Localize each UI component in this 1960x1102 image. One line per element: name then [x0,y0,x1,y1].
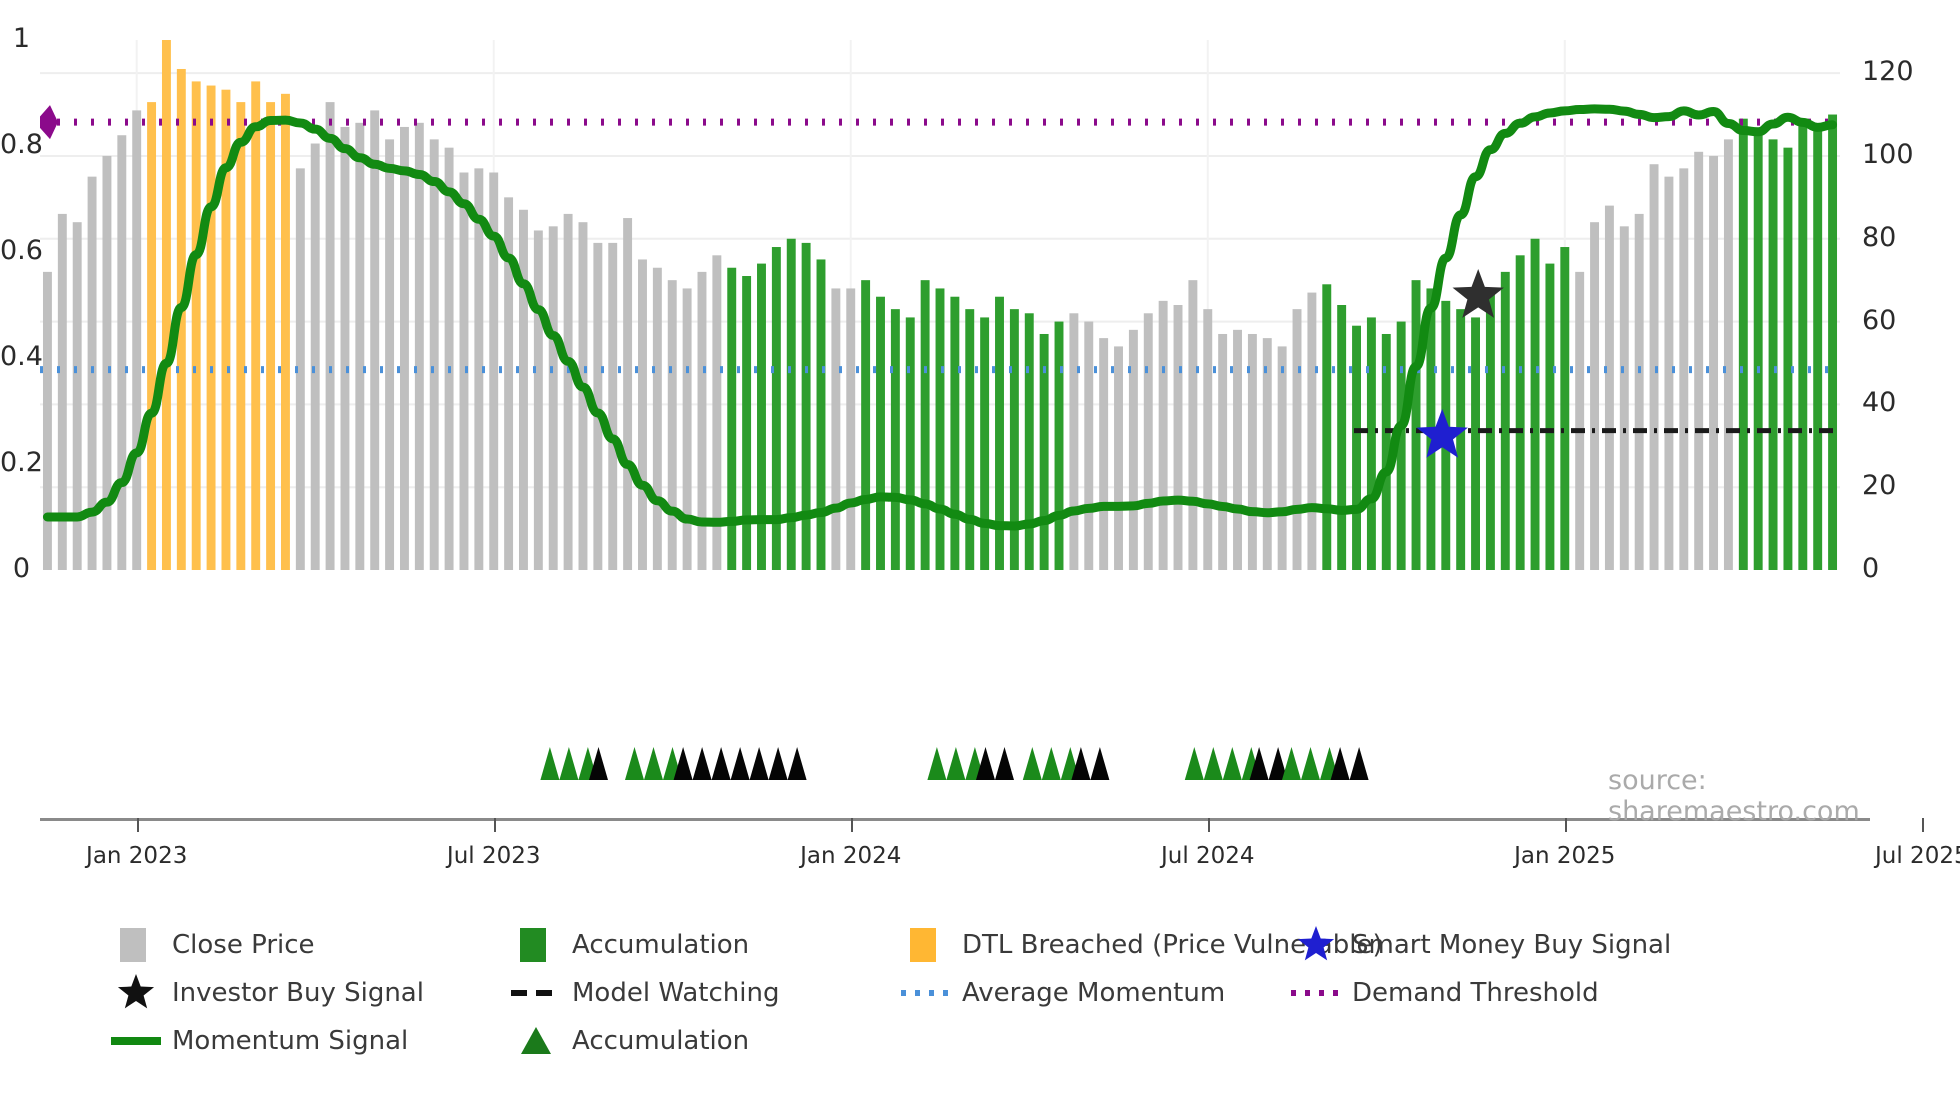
right-axis-tick-label: 60 [1862,305,1896,336]
dashed-line-icon [509,973,563,1013]
accumulation-bar [876,297,885,570]
accumulation-bar [1560,247,1569,570]
accumulation-bar [1501,272,1510,570]
legend-label: Average Momentum [962,978,1225,1008]
legend-label: Close Price [172,930,315,960]
accumulation-bar [1798,123,1807,570]
accumulation-bar [802,243,811,570]
watch-triangle-marker [712,747,731,780]
close-price-bar [1620,226,1629,570]
legend-key [500,1021,572,1061]
close-price-bar [355,123,364,570]
close-price-bar [1307,293,1316,570]
left-axis-tick-label: 0.8 [0,129,30,160]
close-price-bar [1218,334,1227,570]
close-price-bar [1203,309,1212,570]
right-axis-tick-label: 80 [1862,222,1896,253]
x-axis-tick-label: Jul 2025 [1832,843,1960,869]
chart-legend: Close PriceAccumulationDTL Breached (Pri… [100,925,1900,1069]
legend-row: Close PriceAccumulationDTL Breached (Pri… [100,925,1900,965]
close-price-bar [340,127,349,570]
accumulation-triangle-marker [946,747,965,780]
close-price-bar [1679,168,1688,570]
chart-canvas [40,40,1840,570]
legend-label: Demand Threshold [1352,978,1599,1008]
x-axis-tick-label: Jul 2024 [1118,843,1298,869]
legend-key [100,973,172,1013]
close-price-bar [117,135,126,570]
watch-triangle-marker [1090,747,1109,780]
legend-key [100,925,172,965]
close-price-bar [564,214,573,570]
legend-label: Accumulation [572,930,749,960]
dtl-breached-bar [192,81,201,570]
close-price-bar [1069,313,1078,570]
accumulation-bar [1322,284,1331,570]
x-axis-tick [137,818,139,832]
close-price-bar [1144,313,1153,570]
accumulation-bar [1783,148,1792,570]
close-price-bar [519,210,528,570]
close-price-bar [608,243,617,570]
right-axis-tick-label: 0 [1862,553,1879,584]
close-price-bar [1575,272,1584,570]
dtl-breached-bar [147,102,156,570]
legend-row: Investor Buy SignalModel WatchingAverage… [100,973,1900,1013]
x-axis-tick [851,818,853,832]
legend-key [1280,925,1352,965]
close-price-bar [1188,280,1197,570]
accumulation-bar [921,280,930,570]
legend-key [890,973,962,1013]
watch-triangle-marker [1350,747,1369,780]
close-price-bar [400,127,409,570]
dtl-breached-bar [162,40,171,570]
dtl-breached-bar [281,94,290,570]
right-axis-tick-label: 20 [1862,470,1896,501]
chart-page: 10.80.60.40.20 120100806040200 Jan 2023J… [0,0,1960,1102]
watch-triangle-marker [750,747,769,780]
close-price-bar [549,226,558,570]
accumulation-bar [1545,264,1554,570]
accumulation-bar [980,317,989,570]
accumulation-triangle-marker [1223,747,1242,780]
left-axis-tick-label: 1 [0,23,30,54]
left-axis-tick-label: 0.4 [0,341,30,372]
close-price-bar [1233,330,1242,570]
accumulation-triangle-strip [40,735,1840,785]
x-axis-line [40,818,1870,821]
dtl-breached-bar [207,86,216,570]
accumulation-triangle-marker [1204,747,1223,780]
x-axis-tick-label: Jul 2023 [404,843,584,869]
accumulation-bar [1352,326,1361,570]
close-price-bar [1709,156,1718,570]
close-price-bar [1724,139,1733,570]
dtl-breached-bar [236,102,245,570]
left-axis-tick-label: 0 [0,553,30,584]
solid-line-icon [109,1021,163,1061]
x-axis-tick [494,818,496,832]
legend-item[interactable]: Momentum Signal [100,1021,408,1061]
color-swatch-icon [899,925,953,965]
x-axis-tick-label: Jan 2024 [761,843,941,869]
close-price-bar [1129,330,1138,570]
close-price-bar [311,144,320,570]
close-price-bar [132,110,141,570]
close-price-bar [445,148,454,570]
close-price-bar [1114,346,1123,570]
close-price-bar [683,288,692,570]
dtl-breached-bar [266,102,275,570]
close-price-bar [668,280,677,570]
legend-label: Model Watching [572,978,779,1008]
close-price-bar [370,110,379,570]
legend-label: Smart Money Buy Signal [1352,930,1671,960]
color-swatch-icon [109,925,163,965]
source-attribution: source: sharemaestro.com [1608,765,1960,827]
legend-item[interactable]: Demand Threshold [1280,973,1599,1013]
left-axis-tick-label: 0.6 [0,235,30,266]
legend-item[interactable]: Average Momentum [890,973,1225,1013]
accumulation-bar [861,280,870,570]
star-icon [1289,925,1343,965]
accumulation-triangle-marker [1023,747,1042,780]
accumulation-bar [1471,317,1480,570]
close-price-bar [415,123,424,570]
legend-key [1280,973,1352,1013]
legend-label: Momentum Signal [172,1026,408,1056]
x-axis-tick [1208,818,1210,832]
accumulation-bar [891,309,900,570]
accumulation-triangle-marker [927,747,946,780]
watch-triangle-marker [788,747,807,780]
accumulation-bar [1412,280,1421,570]
accumulation-bar [1055,322,1064,570]
close-price-bar [846,288,855,570]
accumulation-bar [936,288,945,570]
close-price-bar [623,218,632,570]
close-price-bar [430,139,439,570]
triangle-icon [509,1021,563,1061]
legend-item[interactable]: Close Price [100,925,315,965]
close-price-bar [385,139,394,570]
close-price-bar [326,102,335,570]
right-axis-tick-label: 40 [1862,387,1896,418]
accumulation-triangle-marker [1282,747,1301,780]
accumulation-bar [1769,139,1778,570]
legend-key [500,973,572,1013]
close-price-bar [1174,305,1183,570]
accumulation-triangle-marker [540,747,559,780]
accumulation-bar [1813,131,1822,570]
right-axis-tick-label: 120 [1862,56,1914,87]
close-price-bar [1293,309,1302,570]
close-price-bar [43,272,52,570]
close-price-bar [831,288,840,570]
demand-threshold-marker [40,105,58,139]
accumulation-bar [1754,131,1763,570]
legend-item[interactable]: Accumulation [500,1021,749,1061]
accumulation-triangle-marker [559,747,578,780]
legend-item[interactable]: Investor Buy Signal [100,973,424,1013]
close-price-bar [1159,301,1168,570]
legend-key [890,925,962,965]
accumulation-triangle-marker [625,747,644,780]
legend-row: Momentum SignalAccumulation [100,1021,1900,1061]
accumulation-bar [817,259,826,570]
x-axis-tick-label: Jan 2023 [47,843,227,869]
close-price-bar [1664,177,1673,570]
left-axis-tick-label: 0.2 [0,447,30,478]
close-price-bar [638,259,647,570]
legend-label: Accumulation [572,1026,749,1056]
legend-item[interactable]: Accumulation [500,925,749,965]
accumulation-bar [950,297,959,570]
accumulation-bar [1531,239,1540,570]
accumulation-bar [1739,119,1748,570]
star-icon [109,973,163,1013]
close-price-bar [1099,338,1108,570]
close-price-bar [1694,152,1703,570]
x-axis-tick-label: Jan 2025 [1475,843,1655,869]
accumulation-bar [1516,255,1525,570]
color-swatch-icon [509,925,563,965]
plot-area [40,40,1840,570]
dotted-line-icon [899,973,953,1013]
legend-label: Investor Buy Signal [172,978,424,1008]
close-price-bar [1605,206,1614,570]
accumulation-bar [1025,313,1034,570]
close-price-bar [534,230,543,570]
accumulation-bar [1456,309,1465,570]
legend-item[interactable]: Model Watching [500,973,779,1013]
close-price-bar [1590,222,1599,570]
accumulation-bar [906,317,915,570]
accumulation-bar [1337,305,1346,570]
close-price-bar [1635,214,1644,570]
accumulation-triangle-marker [1042,747,1061,780]
x-axis-tick [1565,818,1567,832]
accumulation-bar [965,309,974,570]
watch-triangle-marker [995,747,1014,780]
accumulation-triangle-marker [1301,747,1320,780]
dotted-line-icon [1289,973,1343,1013]
watch-triangle-marker [693,747,712,780]
close-price-bar [653,268,662,570]
close-price-bar [1084,322,1093,570]
accumulation-bar [1367,317,1376,570]
legend-key [500,925,572,965]
legend-key [100,1021,172,1061]
close-price-bar [1278,346,1287,570]
accumulation-bar [742,276,751,570]
watch-triangle-marker [731,747,750,780]
accumulation-triangle-marker [644,747,663,780]
dtl-breached-bar [251,81,260,570]
right-axis-tick-label: 100 [1862,139,1914,170]
accumulation-bar [1828,115,1837,570]
watch-triangle-marker [769,747,788,780]
legend-item[interactable]: Smart Money Buy Signal [1280,925,1671,965]
accumulation-bar [1010,309,1019,570]
accumulation-triangle-marker [1185,747,1204,780]
